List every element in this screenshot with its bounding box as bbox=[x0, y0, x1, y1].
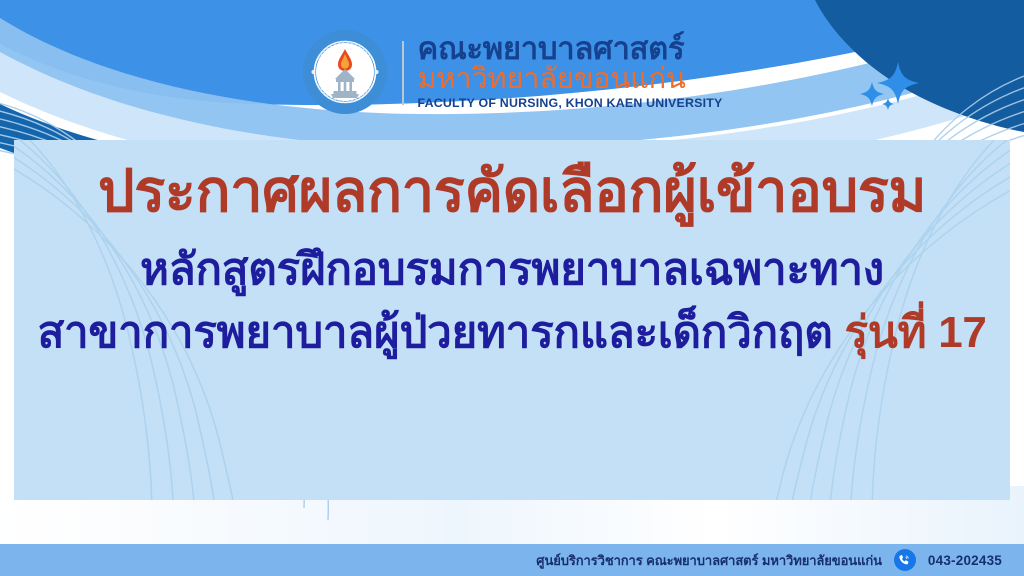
faculty-name-en: FACULTY OF NURSING, KHON KAEN UNIVERSITY bbox=[418, 96, 723, 112]
university-name-th: มหาวิทยาลัยขอนแก่น bbox=[418, 64, 723, 94]
logo-divider bbox=[402, 41, 404, 105]
program-subtitle-line2-row: สาขาการพยาบาลผู้ป่วยทารกและเด็กวิกฤต รุ่… bbox=[37, 307, 986, 360]
footer-bar: ศูนย์บริการวิชาการ คณะพยาบาลศาสตร์ มหาวิ… bbox=[0, 544, 1024, 576]
brand-text-block: คณะพยาบาลศาสตร์ มหาวิทยาลัยขอนแก่น FACUL… bbox=[418, 33, 723, 112]
university-seal-logo bbox=[302, 29, 388, 115]
poster-canvas: คณะพยาบาลศาสตร์ มหาวิทยาลัยขอนแก่น FACUL… bbox=[0, 0, 1024, 576]
announcement-title: ประกาศผลการคัดเลือกผู้เข้าอบรม bbox=[98, 158, 926, 226]
batch-label: รุ่นที่ 17 bbox=[844, 308, 986, 357]
footer-phone-number: 043-202435 bbox=[928, 553, 1002, 568]
brand-header: คณะพยาบาลศาสตร์ มหาวิทยาลัยขอนแก่น FACUL… bbox=[0, 0, 1024, 140]
program-subtitle-line1: หลักสูตรฝึกอบรมการพยาบาลเฉพาะทาง bbox=[140, 244, 884, 297]
seal-icon bbox=[302, 29, 388, 115]
footer-organization: ศูนย์บริการวิชาการ คณะพยาบาลศาสตร์ มหาวิ… bbox=[536, 550, 882, 571]
program-subtitle-line2: สาขาการพยาบาลผู้ป่วยทารกและเด็กวิกฤต bbox=[37, 308, 832, 357]
headline-block: ประกาศผลการคัดเลือกผู้เข้าอบรม หลักสูตรฝ… bbox=[14, 140, 1010, 500]
faculty-name-th: คณะพยาบาลศาสตร์ bbox=[418, 33, 723, 65]
phone-call-icon bbox=[894, 549, 916, 571]
phone-glyph bbox=[897, 553, 912, 568]
